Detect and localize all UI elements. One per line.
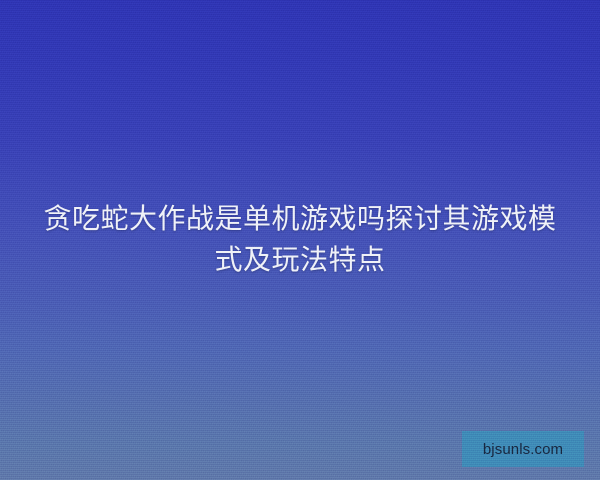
watermark-badge: bjsunls.com: [462, 431, 584, 467]
page-title: 贪吃蛇大作战是单机游戏吗探讨其游戏模式及玩法特点: [30, 198, 570, 280]
watermark-label: bjsunls.com: [483, 442, 563, 457]
image-canvas: 贪吃蛇大作战是单机游戏吗探讨其游戏模式及玩法特点 bjsunls.com: [0, 0, 600, 480]
